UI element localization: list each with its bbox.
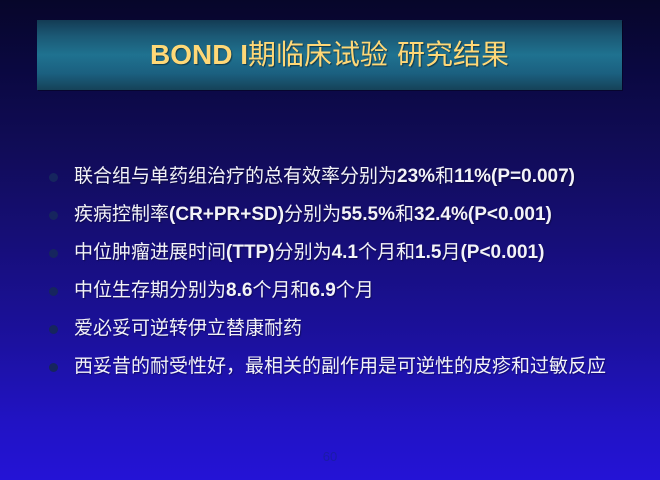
bullet-dot-icon [49,287,58,296]
bullet-dot-icon [49,325,58,334]
bullet-dot-icon [49,211,58,220]
title-cjk-part: 期临床试验 研究结果 [248,38,509,71]
bullet-text-1: 联合组与单药组治疗的总有效率分别为23%和11%(P=0.007) [74,166,575,188]
bullet-text-2: 疾病控制率(CR+PR+SD)分别为55.5%和32.4%(P<0.001) [74,204,552,226]
page-number: 60 [0,449,660,464]
presentation-slide: BOND I期临床试验 研究结果 联合组与单药组治疗的总有效率分别为23%和11… [0,0,660,480]
list-item: 联合组与单药组治疗的总有效率分别为23%和11%(P=0.007) [40,158,640,196]
title-latin-part: BOND I [150,39,248,70]
bullet-text-3: 中位肿瘤进展时间(TTP)分别为4.1个月和1.5月(P<0.001) [74,242,544,264]
slide-title-box: BOND I期临床试验 研究结果 [37,20,622,90]
list-item: 疾病控制率(CR+PR+SD)分别为55.5%和32.4%(P<0.001) [40,196,640,234]
bullet-dot-icon [49,363,58,372]
bullet-text-4: 中位生存期分别为8.6个月和6.9个月 [74,280,374,302]
page-title: BOND I期临床试验 研究结果 [150,41,509,70]
bullet-text-5: 爱必妥可逆转伊立替康耐药 [74,318,302,340]
list-item: 爱必妥可逆转伊立替康耐药 [40,310,640,348]
bullet-dot-icon [49,173,58,182]
bullet-text-6: 西妥昔的耐受性好，最相关的副作用是可逆性的皮疹和过敏反应 [74,356,606,378]
list-item: 中位肿瘤进展时间(TTP)分别为4.1个月和1.5月(P<0.001) [40,234,640,272]
bullet-dot-icon [49,249,58,258]
list-item: 西妥昔的耐受性好，最相关的副作用是可逆性的皮疹和过敏反应 [40,348,640,386]
list-item: 中位生存期分别为8.6个月和6.9个月 [40,272,640,310]
bullet-list: 联合组与单药组治疗的总有效率分别为23%和11%(P=0.007) 疾病控制率(… [40,158,640,386]
